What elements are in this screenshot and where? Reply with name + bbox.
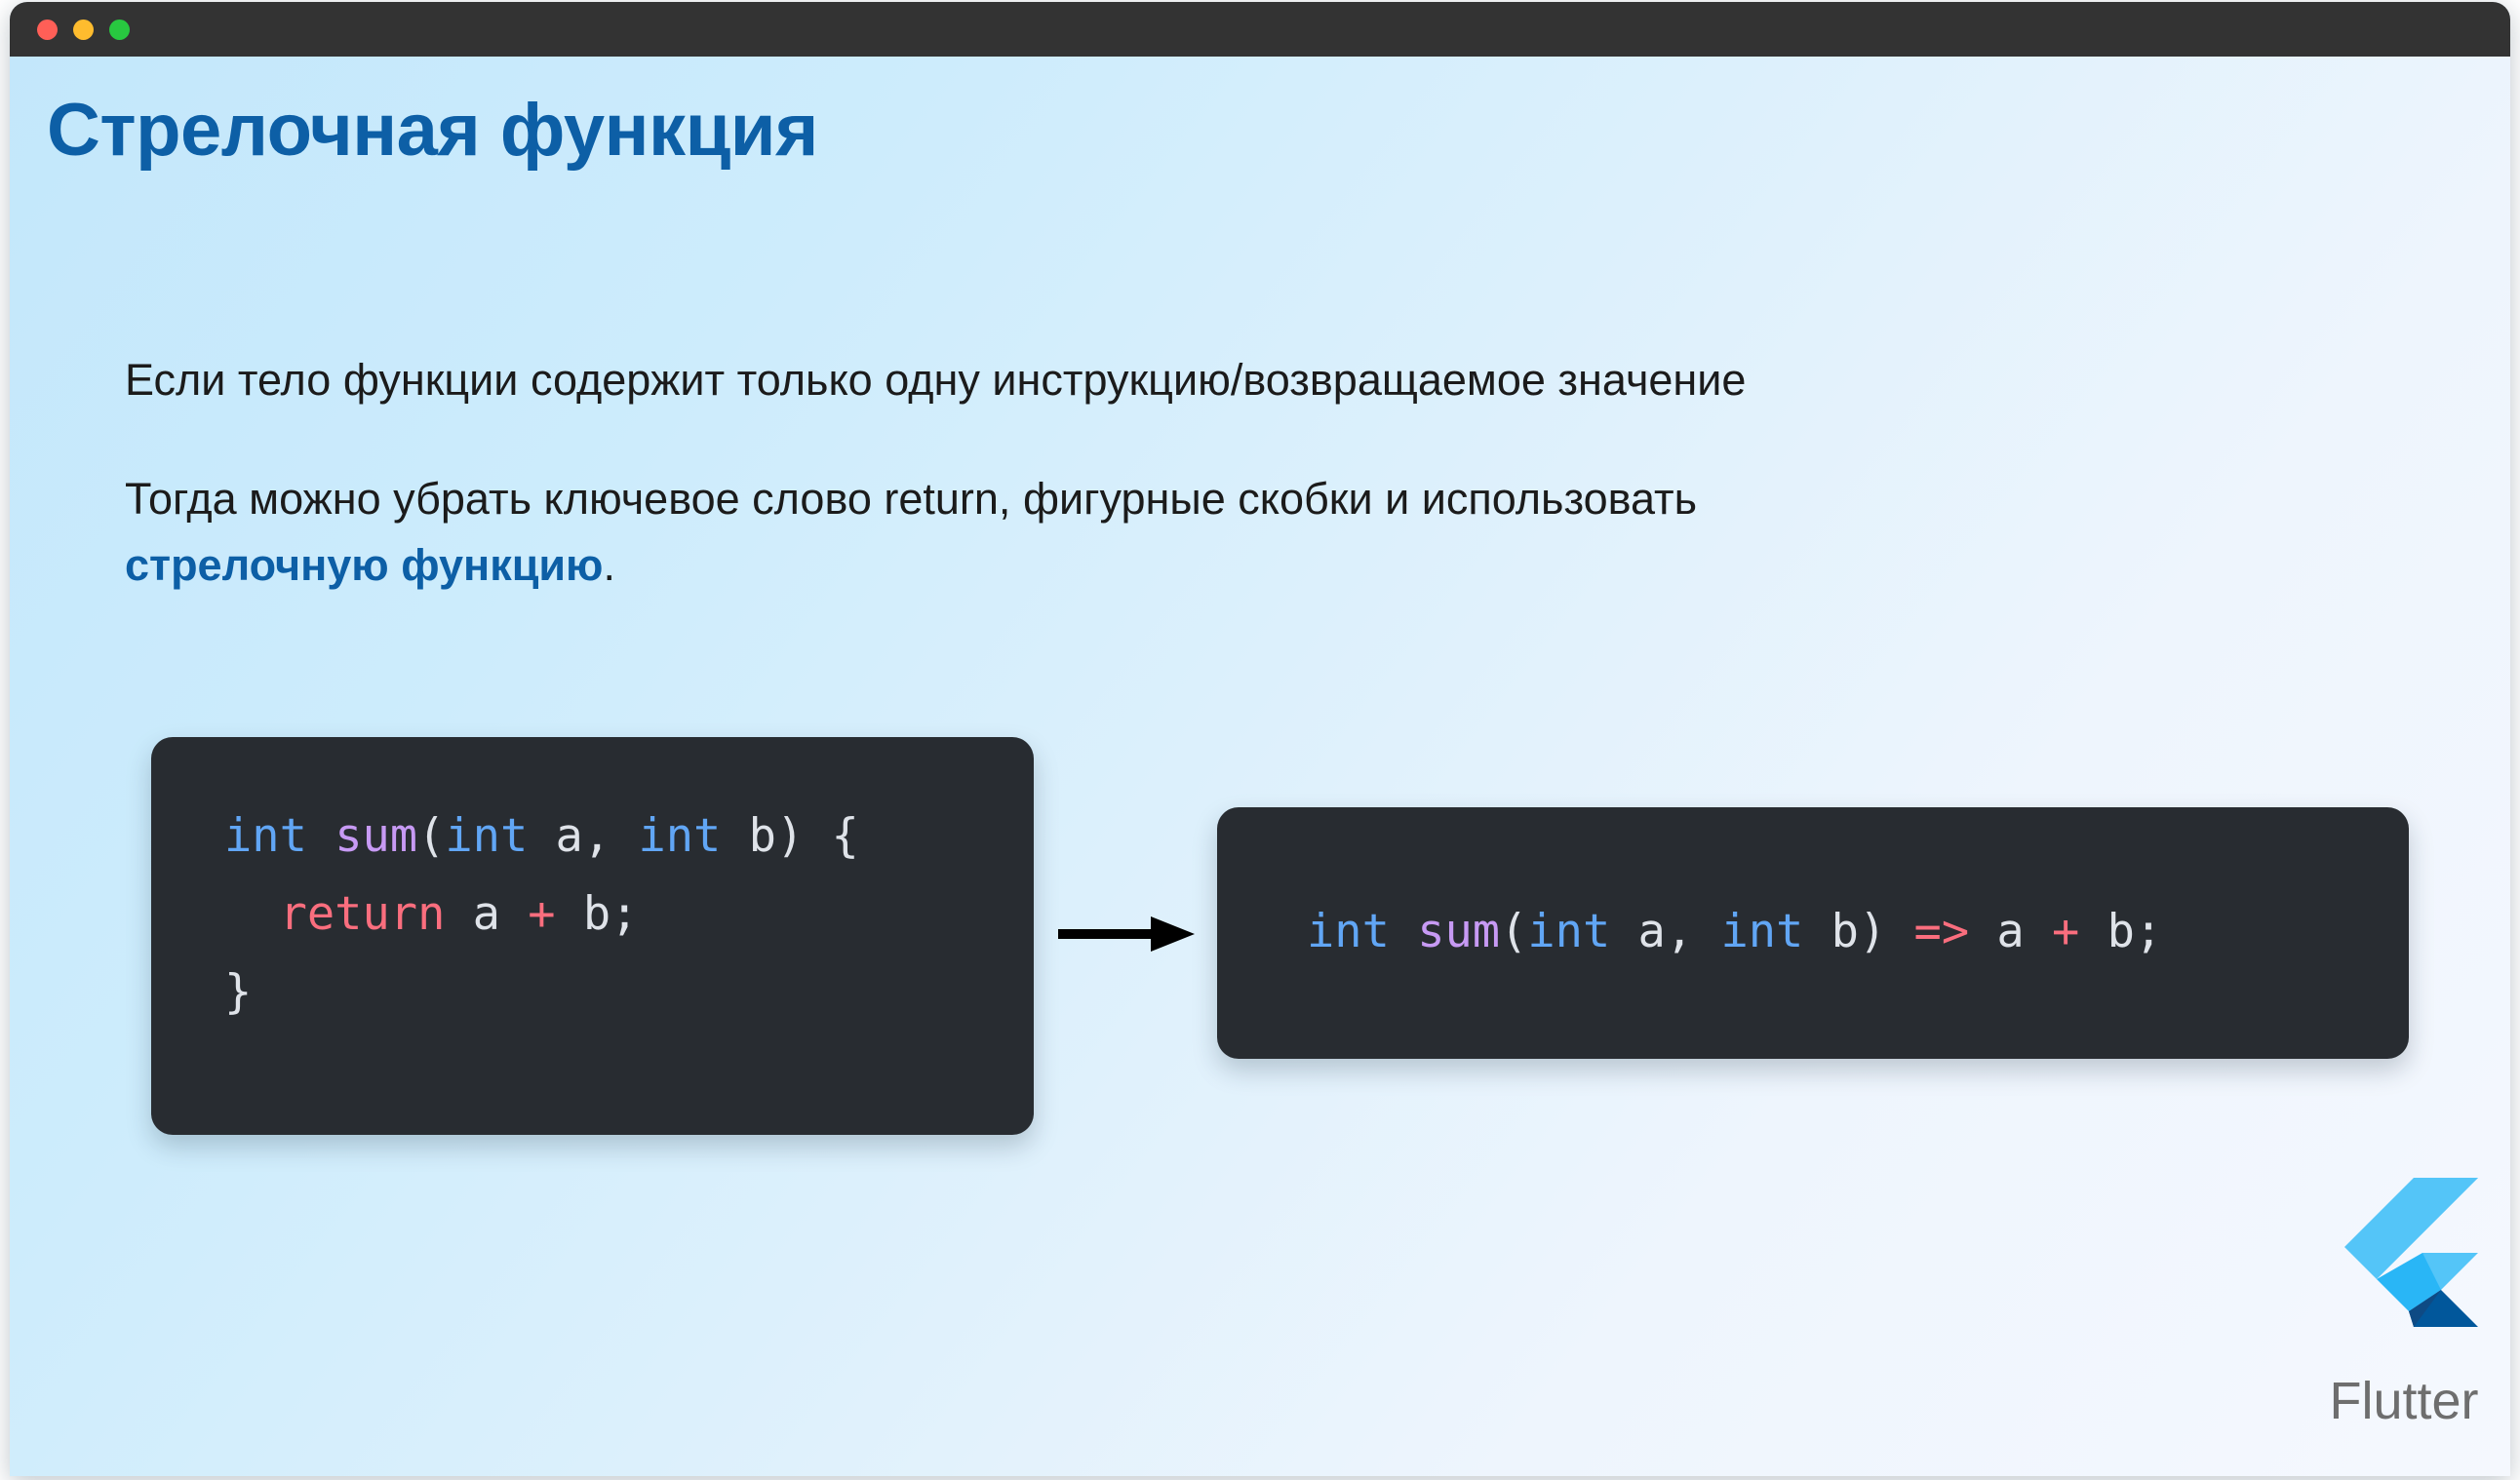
token-fat-arrow: => [1914, 905, 1970, 958]
sentence-period: . [603, 540, 615, 590]
minimize-button[interactable] [73, 19, 94, 40]
right-arrow-icon [1058, 913, 1195, 955]
code-block-arrow-function: int sum(int a, int b) => a + b; [1217, 807, 2409, 1059]
flutter-mark-icon [2332, 1178, 2478, 1358]
token-operator-plus: + [528, 887, 555, 941]
flutter-logo: Flutter [2306, 1178, 2501, 1476]
token-operator-plus: + [2052, 905, 2079, 958]
slide-canvas: Стрелочная функция Если тело функции сод… [10, 57, 2510, 1476]
paragraph-instruction-tail: стрелочную функцию. [125, 542, 615, 588]
highlight-arrow-function: стрелочную функцию [125, 540, 603, 590]
token-type-int: int [1307, 905, 1390, 958]
close-button[interactable] [37, 19, 58, 40]
page-title: Стрелочная функция [47, 88, 818, 173]
window-titlebar [10, 2, 2510, 57]
code-line-1: int sum(int a, int b) => a + b; [1307, 893, 2409, 971]
code-line-2: return a + b; [224, 876, 1034, 954]
paragraph-condition: Если тело функции содержит только одну и… [125, 357, 1746, 403]
flutter-wordmark: Flutter [2306, 1371, 2501, 1431]
token-type-int: int [224, 809, 307, 863]
token-function-name: sum [335, 809, 417, 863]
token-keyword-return: return [280, 887, 446, 941]
code-line-3: } [224, 954, 1034, 1032]
paragraph-instruction: Тогда можно убрать ключевое слово return… [125, 476, 1697, 522]
maximize-button[interactable] [109, 19, 130, 40]
code-block-classic: int sum(int a, int b) { return a + b; } [151, 737, 1034, 1135]
token-function-name: sum [1417, 905, 1500, 958]
app-window: Стрелочная функция Если тело функции сод… [10, 2, 2510, 1476]
code-line-1: int sum(int a, int b) { [224, 798, 1034, 876]
